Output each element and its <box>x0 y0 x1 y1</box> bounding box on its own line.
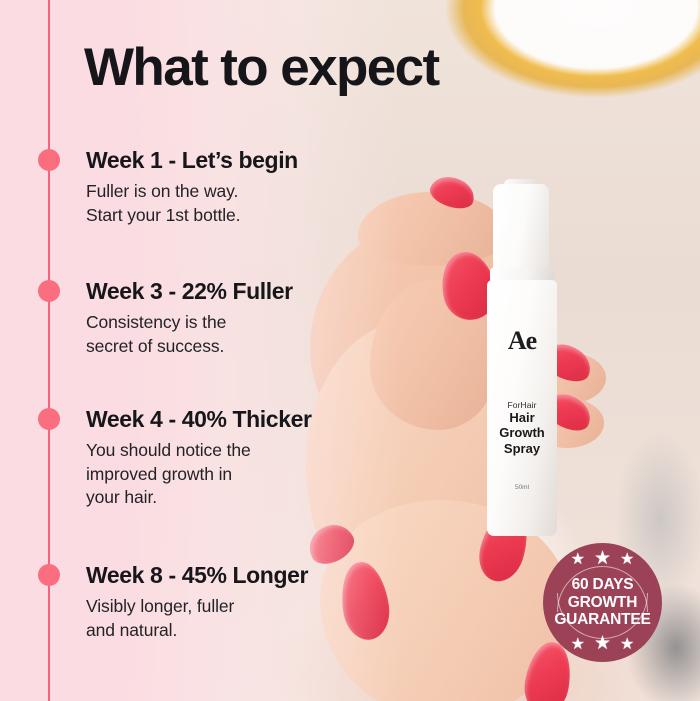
step-body-line: your hair. <box>86 486 312 509</box>
star-icon: ★ <box>620 552 634 568</box>
timeline-step-week-4: Week 4 - 40% Thicker You should notice t… <box>86 407 312 509</box>
step-title: Week 1 - Let’s begin <box>86 148 298 173</box>
badge-line-3: GUARANTEE <box>554 611 650 629</box>
badge-stars-bottom: ★ ★ ★ <box>543 637 662 653</box>
step-title: Week 3 - 22% Fuller <box>86 279 293 304</box>
star-icon: ★ <box>594 549 611 568</box>
timeline-dot-week-8 <box>38 564 60 586</box>
badge-stars-top: ★ ★ ★ <box>543 552 662 568</box>
timeline-step-week-3: Week 3 - 22% Fuller Consistency is the s… <box>86 279 293 358</box>
badge-text: 60 DAYS GROWTH GUARANTEE <box>554 576 650 629</box>
timeline-dot-week-1 <box>38 149 60 171</box>
bottle-body: Ae ForHair Hair Growth Spray 50ml <box>487 280 557 536</box>
step-body-line: improved growth in <box>86 463 312 486</box>
guarantee-badge: ★ ★ ★ 60 DAYS GROWTH GUARANTEE ★ ★ ★ <box>543 543 662 662</box>
timeline-step-week-8: Week 8 - 45% Longer Visibly longer, full… <box>86 563 308 642</box>
step-body-line: and natural. <box>86 619 308 642</box>
timeline-line <box>48 0 50 701</box>
brand-logo: Ae <box>487 328 557 354</box>
step-body: Fuller is on the way. Start your 1st bot… <box>86 180 298 227</box>
timeline-dot-week-4 <box>38 408 60 430</box>
product-eyebrow: ForHair <box>487 400 557 410</box>
step-body-line: Visibly longer, fuller <box>86 595 308 618</box>
step-body-line: Fuller is on the way. <box>86 180 298 203</box>
product-name-line-3: Spray <box>487 441 557 456</box>
step-body-line: Start your 1st bottle. <box>86 204 298 227</box>
product-bottle: Ae ForHair Hair Growth Spray 50ml <box>484 184 560 536</box>
product-name-line-2: Growth <box>487 425 557 440</box>
star-icon: ★ <box>594 634 611 653</box>
product-volume: 50ml <box>487 484 557 491</box>
step-body-line: Consistency is the <box>86 311 293 334</box>
step-body: You should notice the improved growth in… <box>86 439 312 509</box>
star-icon: ★ <box>620 637 634 653</box>
badge-line-1: 60 DAYS <box>554 576 650 594</box>
page-title: What to expect <box>84 41 439 94</box>
step-title: Week 8 - 45% Longer <box>86 563 308 588</box>
step-body: Visibly longer, fuller and natural. <box>86 595 308 642</box>
step-body-line: You should notice the <box>86 439 312 462</box>
bottle-cap <box>493 184 549 272</box>
bottle-label: Ae ForHair Hair Growth Spray 50ml <box>487 280 557 536</box>
timeline-step-week-1: Week 1 - Let’s begin Fuller is on the wa… <box>86 148 298 227</box>
step-body: Consistency is the secret of success. <box>86 311 293 358</box>
star-icon: ★ <box>571 637 585 653</box>
badge-line-2: GROWTH <box>554 594 650 612</box>
timeline-dot-week-3 <box>38 280 60 302</box>
product-name-line-1: Hair <box>487 410 557 425</box>
step-title: Week 4 - 40% Thicker <box>86 407 312 432</box>
star-icon: ★ <box>571 552 585 568</box>
step-body-line: secret of success. <box>86 335 293 358</box>
